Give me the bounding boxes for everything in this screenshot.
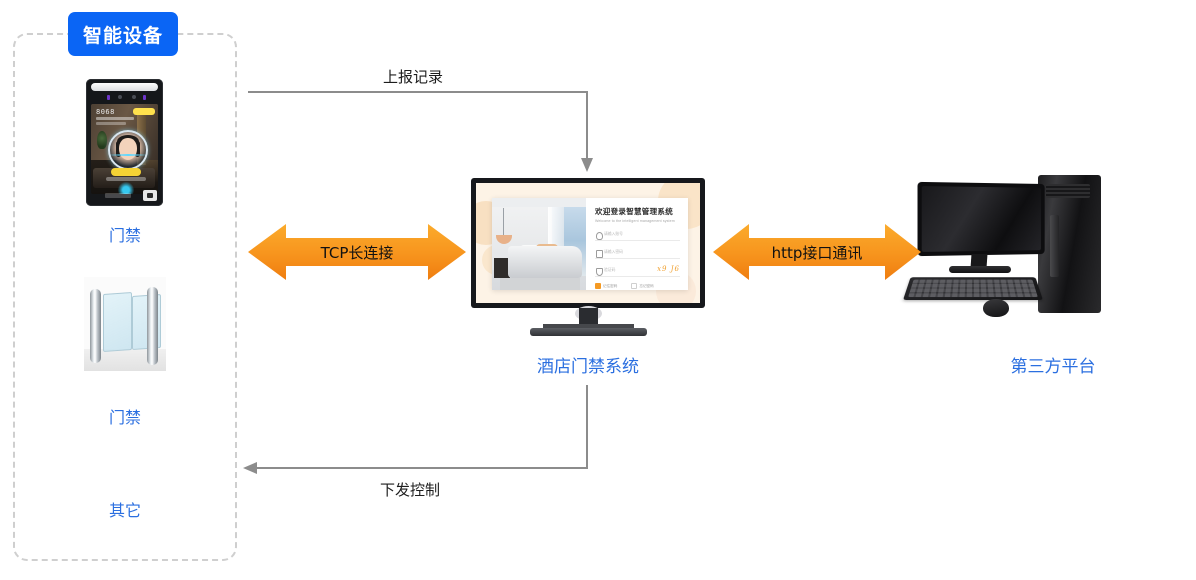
pc-monitor bbox=[918, 182, 1045, 256]
pc-keyboard bbox=[903, 277, 1043, 300]
hotel-access-system-image: 欢迎登录智慧管理系统 Welcome to the intelligent ma… bbox=[471, 178, 705, 323]
terminal-card-reader bbox=[143, 190, 157, 201]
hotel-access-system-label: 酒店门禁系统 bbox=[471, 352, 705, 377]
login-card: 欢迎登录智慧管理系统 Welcome to the intelligent ma… bbox=[492, 198, 688, 290]
shield-icon bbox=[596, 268, 603, 276]
terminal-status-badge bbox=[133, 108, 155, 115]
forgot-password-label: 忘记密码 bbox=[639, 284, 653, 289]
smart-device-badge: 智能设备 bbox=[68, 12, 178, 56]
terminal-recognition-tag bbox=[111, 168, 141, 176]
terminal-sensor-row bbox=[91, 94, 158, 101]
username-field[interactable]: 请输入账号 bbox=[595, 230, 680, 241]
captcha-image[interactable]: x9 J6 bbox=[657, 265, 680, 273]
top-flow-arrowhead bbox=[581, 158, 593, 172]
http-interface-label: http接口通讯 bbox=[772, 242, 863, 263]
third-party-platform-image bbox=[905, 175, 1101, 323]
lock-icon bbox=[596, 250, 603, 258]
device-label-face-terminal: 门禁 bbox=[13, 222, 237, 246]
terminal-subtext-line-2 bbox=[96, 122, 126, 125]
remember-password-checkbox[interactable]: 记住密码 bbox=[595, 283, 617, 289]
tcp-connection-arrow: TCP长连接 bbox=[248, 222, 466, 282]
top-flow-line bbox=[248, 92, 587, 163]
username-placeholder: 请输入账号 bbox=[604, 232, 623, 237]
login-form: 欢迎登录智慧管理系统 Welcome to the intelligent ma… bbox=[586, 198, 688, 290]
user-icon bbox=[596, 232, 603, 240]
monitor-stand-base bbox=[530, 328, 647, 336]
password-field[interactable]: 请输入密码 bbox=[595, 248, 680, 259]
smart-device-badge-label: 智能设备 bbox=[83, 21, 163, 48]
pc-monitor-base bbox=[949, 266, 1011, 273]
bottom-flow-arrowhead bbox=[243, 462, 257, 474]
third-party-platform-label: 第三方平台 bbox=[955, 352, 1151, 377]
device-label-others: 其它 bbox=[13, 497, 237, 521]
terminal-light-bar bbox=[91, 83, 158, 91]
forgot-password-link[interactable]: 忘记密码 bbox=[631, 283, 653, 289]
diagram-canvas: 智能设备 8068 bbox=[0, 0, 1196, 580]
pc-tower bbox=[1038, 175, 1101, 313]
bottom-flow-label: 下发控制 bbox=[380, 479, 440, 500]
terminal-bottom-panel bbox=[91, 190, 158, 202]
terminal-subtext-line-1 bbox=[96, 117, 134, 120]
http-interface-arrow: http接口通讯 bbox=[713, 222, 921, 282]
monitor-screen: 欢迎登录智慧管理系统 Welcome to the intelligent ma… bbox=[476, 183, 700, 303]
terminal-time-text: 8068 bbox=[96, 108, 115, 116]
monitor-bezel: 欢迎登录智慧管理系统 Welcome to the intelligent ma… bbox=[471, 178, 705, 308]
login-options: 记住密码 忘记密码 bbox=[595, 283, 680, 289]
login-form-subtitle: Welcome to the intelligent management sy… bbox=[595, 219, 680, 223]
swing-gate-image bbox=[84, 277, 166, 371]
face-recognition-terminal-image: 8068 bbox=[86, 79, 163, 206]
password-placeholder: 请输入密码 bbox=[604, 250, 623, 255]
tcp-connection-label: TCP长连接 bbox=[321, 242, 394, 263]
terminal-recognition-subtag bbox=[106, 177, 146, 181]
terminal-face-scan-ring bbox=[108, 130, 148, 170]
bottom-flow-line bbox=[252, 385, 587, 468]
captcha-field[interactable]: 验证码 x9 J6 bbox=[595, 266, 680, 277]
device-label-swing-gate: 门禁 bbox=[13, 404, 237, 428]
checkbox-icon bbox=[595, 283, 601, 289]
top-flow-label: 上报记录 bbox=[383, 66, 443, 87]
remember-password-label: 记住密码 bbox=[603, 284, 617, 289]
pc-mouse bbox=[983, 299, 1009, 317]
login-form-title: 欢迎登录智慧管理系统 bbox=[595, 207, 680, 216]
terminal-screen: 8068 bbox=[91, 104, 158, 194]
checkbox-icon bbox=[631, 283, 637, 289]
captcha-placeholder: 验证码 bbox=[604, 268, 615, 273]
hotel-room-photo bbox=[492, 198, 586, 290]
